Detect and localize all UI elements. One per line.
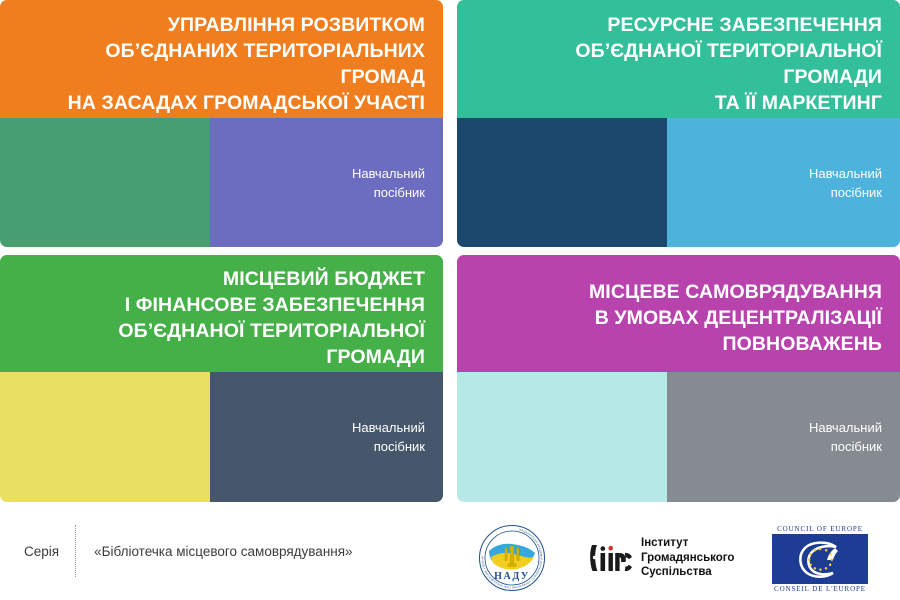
series-label: Серія [24, 544, 75, 559]
cover-subtitle: Навчальний посібник [352, 164, 425, 202]
cover-header-band: УПРАВЛІННЯ РОЗВИТКОМ ОБ’ЄДНАНИХ ТЕРИТОРІ… [0, 0, 443, 118]
cover-title: РЕСУРСНЕ ЗАБЕЗПЕЧЕННЯ ОБ’ЄДНАНОЇ ТЕРИТОР… [475, 12, 882, 116]
cover-subtitle: Навчальний посібник [809, 418, 882, 456]
footer: Серія «Бібліотечка місцевого самоврядува… [0, 502, 900, 600]
cover-title: УПРАВЛІННЯ РОЗВИТКОМ ОБ’ЄДНАНИХ ТЕРИТОРІ… [18, 12, 425, 116]
cover-body: Навчальний посібник [457, 372, 900, 502]
series-divider [75, 525, 76, 577]
series-name: «Бібліотечка місцевого самоврядування» [94, 544, 352, 559]
igs-label: Інститут Громадянського Суспільства [641, 536, 734, 580]
book-cover-grid: УПРАВЛІННЯ РОЗВИТКОМ ОБ’ЄДНАНИХ ТЕРИТОРІ… [0, 0, 900, 502]
cover-body: Навчальний посібник [0, 372, 443, 502]
cover-accent-block-right: Навчальний посібник [667, 372, 900, 502]
cover-accent-block-left [457, 118, 667, 247]
institute-civil-society-logo: Інститут Громадянського Суспільства [588, 530, 734, 586]
cover-body: Навчальний посібник [0, 118, 443, 247]
series-block: Серія «Бібліотечка місцевого самоврядува… [24, 526, 353, 576]
coe-flag-icon [772, 534, 868, 584]
cover-accent-block-right: Навчальний посібник [210, 372, 443, 502]
cover-accent-block-right: Навчальний посібник [667, 118, 900, 247]
book-cover-card[interactable]: РЕСУРСНЕ ЗАБЕЗПЕЧЕННЯ ОБ’ЄДНАНОЇ ТЕРИТОР… [457, 0, 900, 247]
cover-title: МІСЦЕВИЙ БЮДЖЕТ І ФІНАНСОВЕ ЗАБЕЗПЕЧЕННЯ… [18, 266, 425, 370]
coe-bottom-label: CONSEIL DE L'EUROPE [772, 584, 868, 594]
cover-title: МІСЦЕВЕ САМОВРЯДУВАННЯ В УМОВАХ ДЕЦЕНТРА… [589, 279, 882, 357]
cover-body: Навчальний посібник [457, 118, 900, 247]
cover-subtitle: Навчальний посібник [809, 164, 882, 202]
cover-subtitle: Навчальний посібник [352, 418, 425, 456]
cover-header-band: РЕСУРСНЕ ЗАБЕЗПЕЧЕННЯ ОБ’ЄДНАНОЇ ТЕРИТОР… [457, 0, 900, 118]
nadu-seal-icon: НАДУ НАЦІОНАЛЬНА АКАДЕМІЯ ДЕРЖАВНОГО УПР… [478, 524, 546, 592]
cover-accent-block-left [457, 372, 667, 502]
cover-accent-block-left [0, 372, 210, 502]
publication-series-poster: УПРАВЛІННЯ РОЗВИТКОМ ОБ’ЄДНАНИХ ТЕРИТОРІ… [0, 0, 900, 600]
council-of-europe-logo: COUNCIL OF EUROPE [772, 524, 868, 594]
coe-top-label: COUNCIL OF EUROPE [772, 524, 868, 534]
book-cover-card[interactable]: УПРАВЛІННЯ РОЗВИТКОМ ОБ’ЄДНАНИХ ТЕРИТОРІ… [0, 0, 443, 247]
cover-accent-block-left [0, 118, 210, 247]
svg-text:НАДУ: НАДУ [494, 571, 530, 582]
igs-mark-icon [588, 541, 634, 575]
book-cover-card[interactable]: МІСЦЕВИЙ БЮДЖЕТ І ФІНАНСОВЕ ЗАБЕЗПЕЧЕННЯ… [0, 255, 443, 502]
book-cover-card[interactable]: МІСЦЕВЕ САМОВРЯДУВАННЯ В УМОВАХ ДЕЦЕНТРА… [457, 255, 900, 502]
cover-header-band: МІСЦЕВЕ САМОВРЯДУВАННЯ В УМОВАХ ДЕЦЕНТРА… [457, 255, 900, 372]
cover-accent-block-right: Навчальний посібник [210, 118, 443, 247]
logo-row: НАДУ НАЦІОНАЛЬНА АКАДЕМІЯ ДЕРЖАВНОГО УПР… [470, 516, 890, 596]
cover-header-band: МІСЦЕВИЙ БЮДЖЕТ І ФІНАНСОВЕ ЗАБЕЗПЕЧЕННЯ… [0, 255, 443, 372]
